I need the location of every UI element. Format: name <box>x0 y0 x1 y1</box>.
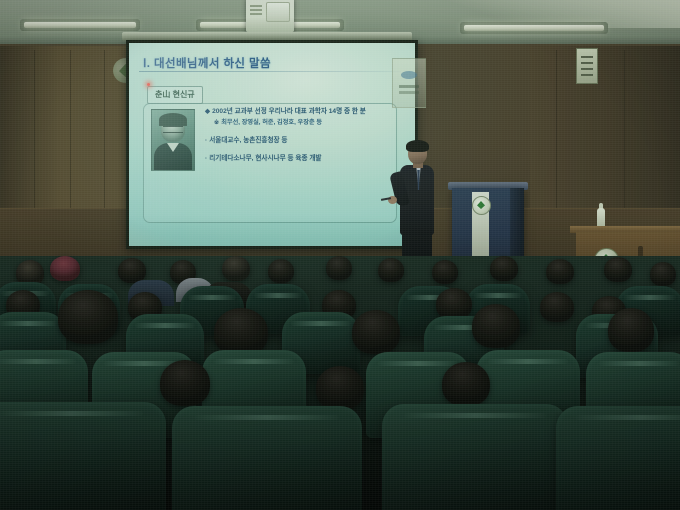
audience-head <box>222 256 250 281</box>
seat-highlight <box>214 359 293 364</box>
wall-panel-joint <box>624 50 625 220</box>
seat-highlight <box>135 323 194 328</box>
seat-highlight <box>291 321 350 326</box>
wall-banner <box>392 58 426 108</box>
seat-highlight <box>576 415 680 420</box>
lectern-emblem-icon <box>472 196 491 215</box>
portrait-glasses-icon <box>163 126 183 133</box>
audience-head <box>432 260 458 284</box>
seat-highlight <box>624 295 676 300</box>
seat-highlight <box>474 293 523 298</box>
bullet-text: 리기테다소나무, 현사시나무 등 육종 개발 <box>209 155 321 162</box>
bullet-text: 최무선, 장영실, 허준, 김정호, 우장춘 등 <box>221 119 322 126</box>
presenter <box>394 140 442 272</box>
seat <box>556 406 680 510</box>
audience-head <box>352 310 400 354</box>
slide-bullet-1: ※최무선, 장영실, 허준, 김정호, 우장춘 등 <box>205 118 385 128</box>
audience-head <box>604 257 632 282</box>
seat <box>172 406 362 510</box>
slide-bullet-list: ◆2002년 교과부 선정 우리나라 대표 과학자 14명 중 한 분 ※최무선… <box>205 107 385 165</box>
lecture-hall-photo: Ⅰ. 대선배님께서 하신 말씀 춘山 현신규 ◆2002년 교과부 선정 우리나… <box>0 0 680 510</box>
projector-lens <box>266 2 290 22</box>
seat-highlight <box>0 359 76 364</box>
projector-icon <box>246 0 294 32</box>
slide-bullet-0: ◆2002년 교과부 선정 우리나라 대표 과학자 14명 중 한 분 <box>205 107 385 117</box>
audience-head <box>540 292 574 322</box>
laser-pointer-dot <box>147 83 150 86</box>
seat <box>0 402 166 510</box>
presenter-hair <box>406 140 429 152</box>
projection-screen: Ⅰ. 대선배님께서 하신 말씀 춘山 현신규 ◆2002년 교과부 선정 우리나… <box>126 40 418 249</box>
wall-panel-joint <box>34 50 35 220</box>
wall-panel-joint <box>556 50 557 220</box>
slide-portrait-photo <box>151 109 195 171</box>
bullet-marker: · <box>205 155 207 162</box>
wall-sign <box>576 48 598 84</box>
bullet-text: 서울대교수, 농촌진흥청장 등 <box>209 137 287 144</box>
audience-head <box>378 258 404 282</box>
seat-highlight <box>404 413 545 418</box>
wall-panel-joint <box>70 50 71 220</box>
wall-sign-text-lines <box>581 56 593 58</box>
projector-vent <box>250 5 262 7</box>
slide-title-rule <box>139 71 401 72</box>
slide-bullet-3: ·리기테다소나무, 현사시나무 등 육종 개발 <box>205 154 385 164</box>
seat-highlight <box>0 321 57 326</box>
audience-head <box>472 304 520 348</box>
ceiling-light-right <box>464 25 604 31</box>
seat-highlight <box>488 359 567 364</box>
audience-head <box>546 259 574 284</box>
portrait-hair <box>159 113 187 126</box>
audience-head <box>490 256 518 281</box>
leaf-shape <box>477 201 485 209</box>
seat-highlight <box>188 295 237 300</box>
audience-head <box>326 256 352 280</box>
audience-head <box>160 360 210 406</box>
seat-highlight <box>378 361 457 366</box>
audience-head <box>58 290 118 344</box>
banner-logo-icon <box>401 71 417 79</box>
slide-name-box: 춘山 현신규 <box>147 86 203 104</box>
bullet-marker: ◆ <box>205 108 210 115</box>
slide-title: Ⅰ. 대선배님께서 하신 말씀 <box>143 55 271 71</box>
seat-highlight <box>254 293 303 298</box>
seat-highlight <box>0 411 143 416</box>
bullet-marker: · <box>205 137 207 144</box>
seat-highlight <box>599 361 680 366</box>
audience-head <box>214 308 268 356</box>
banner-text-lines <box>399 85 419 88</box>
seat <box>382 404 568 510</box>
seat-highlight <box>195 415 339 420</box>
water-bottle <box>597 208 605 228</box>
ceiling-light-left <box>24 22 136 28</box>
wall-panel-joint <box>104 50 105 220</box>
audience-head <box>650 262 676 286</box>
bullet-text: 2002년 교과부 선정 우리나라 대표 과학자 14명 중 한 분 <box>212 108 366 115</box>
audience-area <box>0 256 680 510</box>
screen-surface: Ⅰ. 대선배님께서 하신 말씀 춘山 현신규 ◆2002년 교과부 선정 우리나… <box>129 43 415 246</box>
audience-head <box>442 362 490 406</box>
bullet-marker: ※ <box>214 119 219 126</box>
audience-head <box>608 308 654 352</box>
audience-head <box>316 366 364 410</box>
slide-bullet-2: ·서울대교수, 농촌진흥청장 등 <box>205 136 385 146</box>
audience-head <box>268 259 294 283</box>
audience-head <box>50 256 80 281</box>
